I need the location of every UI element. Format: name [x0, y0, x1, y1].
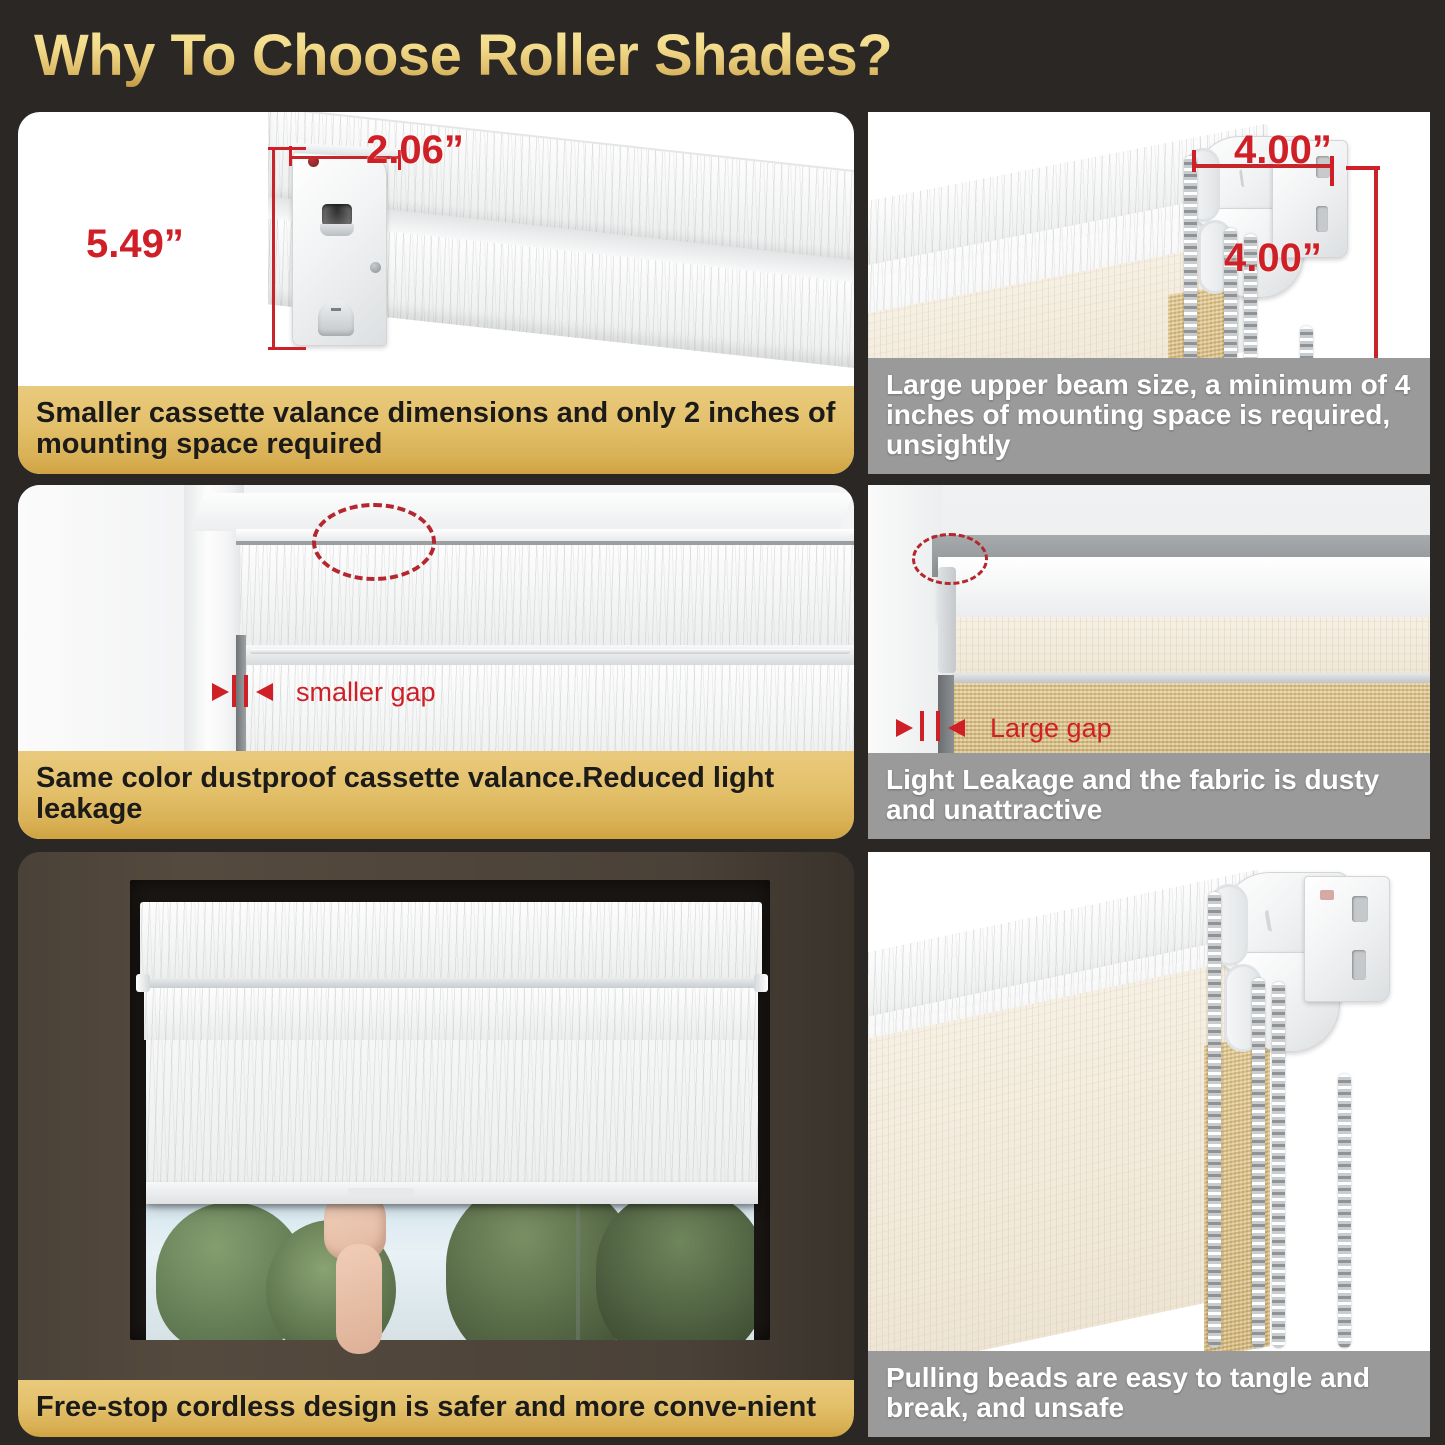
photo-cordless-window [18, 852, 854, 1437]
beam-width-label: 4.00” [1234, 128, 1332, 173]
highlight-ellipse [312, 503, 436, 581]
panel-smaller-gap: smaller gap Same color dustproof cassett… [18, 485, 854, 839]
gap-arrow-left [212, 683, 229, 701]
width-dimension-label: 2.06” [366, 128, 464, 173]
caption-cassette-dimensions: Smaller cassette valance dimensions and … [18, 386, 854, 474]
panel-cassette-dimensions: 2.06” 5.49” Smaller cassette valance dim… [18, 112, 854, 474]
page-title: Why To Choose Roller Shades? [34, 20, 1034, 92]
bead-chain [1208, 892, 1221, 1348]
panel-large-gap: Large gap Light Leakage and the fabric i… [868, 485, 1430, 839]
gap-label: smaller gap [296, 677, 436, 708]
caption-text: Pulling beads are easy to tangle and bre… [886, 1363, 1414, 1423]
caption-large-gap: Light Leakage and the fabric is dusty an… [868, 753, 1430, 839]
bead-chain [1252, 978, 1265, 1348]
page-title-text: Why To Choose Roller Shades? [34, 20, 1034, 92]
gap-arrow-right [948, 719, 965, 737]
panel-cordless-design: Free-stop cordless design is safer and m… [18, 852, 854, 1437]
gap-arrow-right [256, 683, 273, 701]
caption-text: Free-stop cordless design is safer and m… [36, 1392, 838, 1423]
outside-view [146, 1182, 754, 1340]
photo-pulling-beads [868, 852, 1430, 1437]
hand [318, 1188, 396, 1348]
height-dimension-line [272, 148, 275, 350]
gap-label: Large gap [990, 713, 1112, 744]
caption-smaller-gap: Same color dustproof cassette valance.Re… [18, 751, 854, 839]
bead-chain [1272, 982, 1285, 1348]
panel-large-beam-dimensions: 4.00” 4.00” Large upper beam size, a min… [868, 112, 1430, 474]
caption-text: Same color dustproof cassette valance.Re… [36, 763, 838, 825]
comparison-grid: 2.06” 5.49” Smaller cassette valance dim… [0, 104, 1445, 1445]
caption-pulling-beads: Pulling beads are easy to tangle and bre… [868, 1351, 1430, 1437]
caption-text: Large upper beam size, a minimum of 4 in… [886, 370, 1414, 460]
caption-text: Smaller cassette valance dimensions and … [36, 398, 838, 460]
panel-pulling-beads: Pulling beads are easy to tangle and bre… [868, 852, 1430, 1437]
caption-cordless-design: Free-stop cordless design is safer and m… [18, 1380, 854, 1437]
caption-large-beam: Large upper beam size, a minimum of 4 in… [868, 358, 1430, 474]
caption-text: Light Leakage and the fabric is dusty an… [886, 765, 1414, 825]
highlight-ellipse [912, 533, 988, 585]
gap-arrow-left [896, 719, 913, 737]
beam-height-label: 4.00” [1224, 236, 1322, 281]
height-dimension-label: 5.49” [86, 222, 184, 267]
bead-chain [1338, 1074, 1351, 1348]
